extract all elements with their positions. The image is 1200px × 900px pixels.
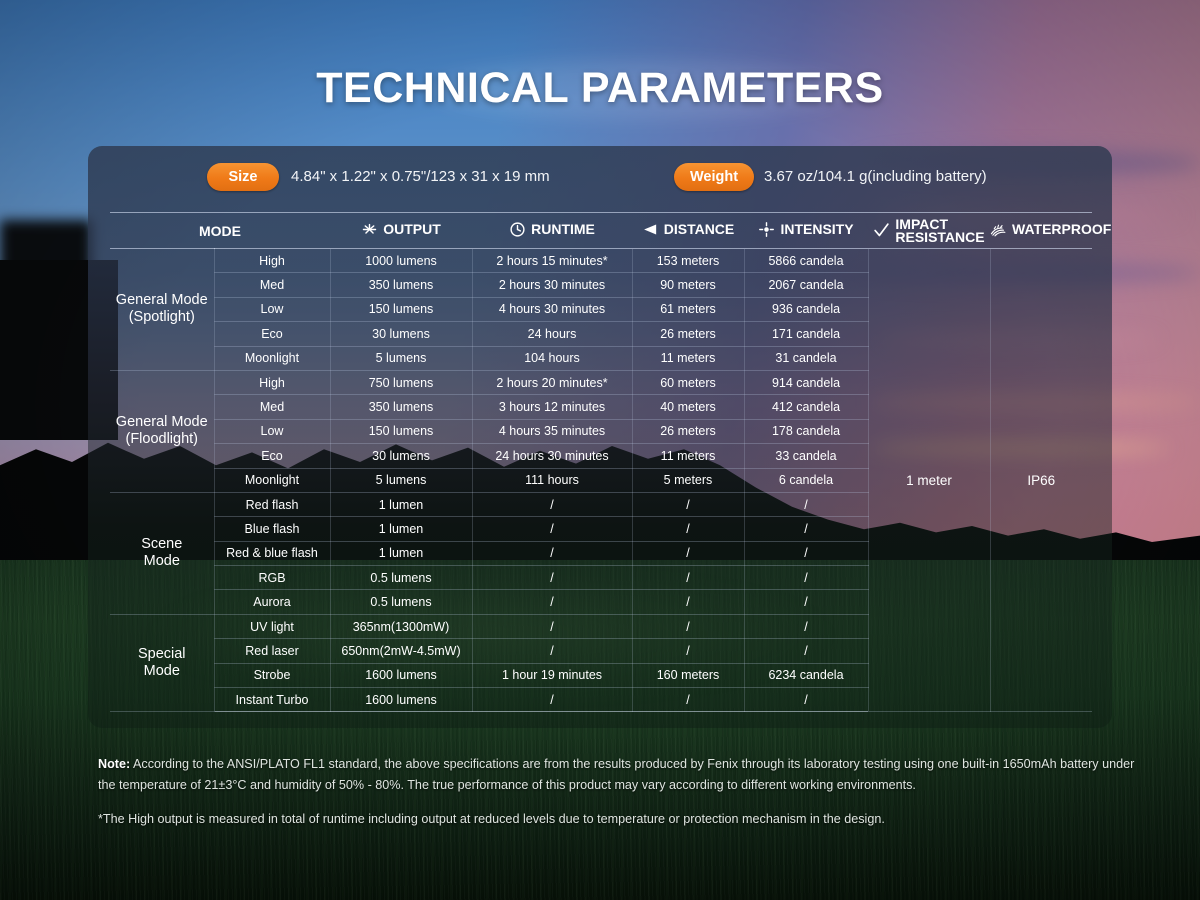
- column-header-waterproof-label: WATERPROOF: [1012, 221, 1111, 237]
- column-header-mode: MODE: [110, 213, 330, 249]
- cell-mode: Med: [214, 273, 330, 297]
- cell-runtime: /: [472, 614, 632, 638]
- cell-intensity: /: [744, 614, 868, 638]
- cell-mode: Red laser: [214, 639, 330, 663]
- cell-distance: /: [632, 688, 744, 712]
- column-header-output: OUTPUT: [330, 213, 472, 249]
- table-body: General Mode(Spotlight)High1000 lumens2 …: [110, 249, 1092, 712]
- cell-runtime: 3 hours 12 minutes: [472, 395, 632, 419]
- cell-mode: Low: [214, 297, 330, 321]
- cell-runtime: /: [472, 566, 632, 590]
- cell-runtime: /: [472, 688, 632, 712]
- column-header-waterproof: WATERPROOF: [990, 213, 1092, 249]
- cell-mode: UV light: [214, 614, 330, 638]
- note-prefix: Note:: [98, 757, 130, 771]
- cell-distance: 153 meters: [632, 249, 744, 273]
- cell-mode: Eco: [214, 444, 330, 468]
- cell-intensity: /: [744, 688, 868, 712]
- column-header-intensity: INTENSITY: [744, 213, 868, 249]
- cell-mode: RGB: [214, 566, 330, 590]
- cell-distance: 5 meters: [632, 468, 744, 492]
- cell-mode: Moonlight: [214, 346, 330, 370]
- cell-intensity: /: [744, 492, 868, 516]
- cell-runtime: /: [472, 590, 632, 614]
- cell-distance: 160 meters: [632, 663, 744, 687]
- cell-distance: /: [632, 492, 744, 516]
- cell-intensity: 6 candela: [744, 468, 868, 492]
- row-group-label: General Mode(Floodlight): [110, 370, 214, 492]
- cell-mode: Low: [214, 419, 330, 443]
- cell-distance: 26 meters: [632, 419, 744, 443]
- row-group-line1: General Mode: [116, 414, 208, 430]
- cell-intensity: 178 candela: [744, 419, 868, 443]
- cell-distance: /: [632, 639, 744, 663]
- footnotes: Note: According to the ANSI/PLATO FL1 st…: [98, 754, 1138, 830]
- cell-output: 650nm(2mW-4.5mW): [330, 639, 472, 663]
- cell-output: 0.5 lumens: [330, 590, 472, 614]
- specifications-table: MODE: [110, 212, 1092, 712]
- row-group-line1: General Mode: [116, 292, 208, 308]
- cell-runtime: 2 hours 30 minutes: [472, 273, 632, 297]
- cell-output: 1 lumen: [330, 517, 472, 541]
- weight-badge: Weight: [674, 163, 754, 191]
- weight-value: 3.67 oz/104.1 g(including battery): [764, 164, 987, 190]
- table-header-row: MODE: [110, 213, 1092, 249]
- row-group-line2: Mode: [144, 553, 180, 569]
- water-splash-icon: [990, 221, 1007, 238]
- cell-distance: 11 meters: [632, 444, 744, 468]
- beam-distance-icon: [642, 221, 659, 238]
- cell-mode: Instant Turbo: [214, 688, 330, 712]
- cell-impact-resistance: 1 meter: [868, 249, 990, 712]
- cell-output: 350 lumens: [330, 273, 472, 297]
- cell-intensity: /: [744, 517, 868, 541]
- row-group-label: General Mode(Spotlight): [110, 249, 214, 371]
- row-group-line2: (Spotlight): [129, 309, 195, 325]
- cell-distance: 40 meters: [632, 395, 744, 419]
- cell-runtime: 24 hours 30 minutes: [472, 444, 632, 468]
- cell-runtime: 2 hours 20 minutes*: [472, 370, 632, 394]
- column-header-runtime: RUNTIME: [472, 213, 632, 249]
- column-header-distance: DISTANCE: [632, 213, 744, 249]
- cell-runtime: 111 hours: [472, 468, 632, 492]
- cell-runtime: 2 hours 15 minutes*: [472, 249, 632, 273]
- cell-distance: 26 meters: [632, 322, 744, 346]
- cell-intensity: 6234 candela: [744, 663, 868, 687]
- cell-output: 1 lumen: [330, 492, 472, 516]
- cell-mode: Blue flash: [214, 517, 330, 541]
- cell-distance: /: [632, 614, 744, 638]
- spec-panel: Size 4.84" x 1.22" x 0.75"/123 x 31 x 19…: [88, 146, 1112, 728]
- cell-mode: Eco: [214, 322, 330, 346]
- cell-runtime: 4 hours 30 minutes: [472, 297, 632, 321]
- sun-rays-icon: [361, 221, 378, 238]
- specifications-table-wrapper: MODE: [110, 212, 1092, 712]
- page-title: TECHNICAL PARAMETERS: [0, 64, 1200, 113]
- cell-output: 750 lumens: [330, 370, 472, 394]
- cell-distance: /: [632, 517, 744, 541]
- cell-output: 350 lumens: [330, 395, 472, 419]
- cell-intensity: 412 candela: [744, 395, 868, 419]
- cell-mode: Aurora: [214, 590, 330, 614]
- column-header-runtime-label: RUNTIME: [531, 221, 595, 237]
- cell-distance: /: [632, 566, 744, 590]
- cell-mode: Med: [214, 395, 330, 419]
- cell-output: 30 lumens: [330, 444, 472, 468]
- cell-intensity: 33 candela: [744, 444, 868, 468]
- size-badge: Size: [207, 163, 279, 191]
- cell-output: 5 lumens: [330, 346, 472, 370]
- cell-output: 0.5 lumens: [330, 566, 472, 590]
- column-header-impact-resistance: IMPACT RESISTANCE: [868, 213, 990, 249]
- cell-mode: Strobe: [214, 663, 330, 687]
- cell-runtime: 4 hours 35 minutes: [472, 419, 632, 443]
- cell-distance: 61 meters: [632, 297, 744, 321]
- size-value: 4.84" x 1.22" x 0.75"/123 x 31 x 19 mm: [291, 164, 550, 190]
- column-header-mode-label: MODE: [199, 223, 241, 239]
- cell-runtime: /: [472, 517, 632, 541]
- cell-intensity: 5866 candela: [744, 249, 868, 273]
- cell-runtime: /: [472, 492, 632, 516]
- crosshair-icon: [758, 221, 775, 238]
- cell-intensity: /: [744, 639, 868, 663]
- cell-distance: /: [632, 541, 744, 565]
- row-group-line1: Scene: [141, 536, 182, 552]
- cell-intensity: /: [744, 566, 868, 590]
- cell-mode: Moonlight: [214, 468, 330, 492]
- cell-runtime: /: [472, 639, 632, 663]
- row-group-label: SpecialMode: [110, 614, 214, 712]
- cell-distance: /: [632, 590, 744, 614]
- row-group-line2: (Floodlight): [125, 431, 198, 447]
- cell-output: 150 lumens: [330, 297, 472, 321]
- row-group-line2: Mode: [144, 663, 180, 679]
- cell-distance: 11 meters: [632, 346, 744, 370]
- note-ansi-standard: Note: According to the ANSI/PLATO FL1 st…: [98, 754, 1138, 796]
- cell-distance: 90 meters: [632, 273, 744, 297]
- row-group-label: SceneMode: [110, 492, 214, 614]
- cell-output: 1600 lumens: [330, 688, 472, 712]
- cell-output: 365nm(1300mW): [330, 614, 472, 638]
- cell-intensity: 171 candela: [744, 322, 868, 346]
- table-row: General Mode(Spotlight)High1000 lumens2 …: [110, 249, 1092, 273]
- clock-icon: [509, 221, 526, 238]
- cell-mode: High: [214, 249, 330, 273]
- cell-runtime: 1 hour 19 minutes: [472, 663, 632, 687]
- cell-mode: High: [214, 370, 330, 394]
- cell-output: 1000 lumens: [330, 249, 472, 273]
- cell-distance: 60 meters: [632, 370, 744, 394]
- size-weight-row: Size 4.84" x 1.22" x 0.75"/123 x 31 x 19…: [88, 146, 1112, 208]
- cell-output: 150 lumens: [330, 419, 472, 443]
- column-header-output-label: OUTPUT: [383, 221, 441, 237]
- cell-output: 5 lumens: [330, 468, 472, 492]
- cell-intensity: 31 candela: [744, 346, 868, 370]
- checkmark-icon: [873, 222, 890, 239]
- cell-output: 1 lumen: [330, 541, 472, 565]
- cell-runtime: /: [472, 541, 632, 565]
- column-header-distance-label: DISTANCE: [664, 221, 735, 237]
- cell-intensity: 914 candela: [744, 370, 868, 394]
- row-group-line1: Special: [138, 646, 186, 662]
- cell-mode: Red flash: [214, 492, 330, 516]
- cell-intensity: 936 candela: [744, 297, 868, 321]
- cell-intensity: /: [744, 541, 868, 565]
- note-body: According to the ANSI/PLATO FL1 standard…: [98, 757, 1134, 792]
- cell-output: 1600 lumens: [330, 663, 472, 687]
- note-high-output: *The High output is measured in total of…: [98, 809, 1138, 830]
- cell-mode: Red & blue flash: [214, 541, 330, 565]
- column-header-intensity-label: INTENSITY: [780, 221, 853, 237]
- cell-output: 30 lumens: [330, 322, 472, 346]
- cell-runtime: 24 hours: [472, 322, 632, 346]
- column-header-impact-line2: RESISTANCE: [895, 229, 984, 245]
- cell-waterproof: IP66: [990, 249, 1092, 712]
- cell-intensity: /: [744, 590, 868, 614]
- cell-runtime: 104 hours: [472, 346, 632, 370]
- cell-intensity: 2067 candela: [744, 273, 868, 297]
